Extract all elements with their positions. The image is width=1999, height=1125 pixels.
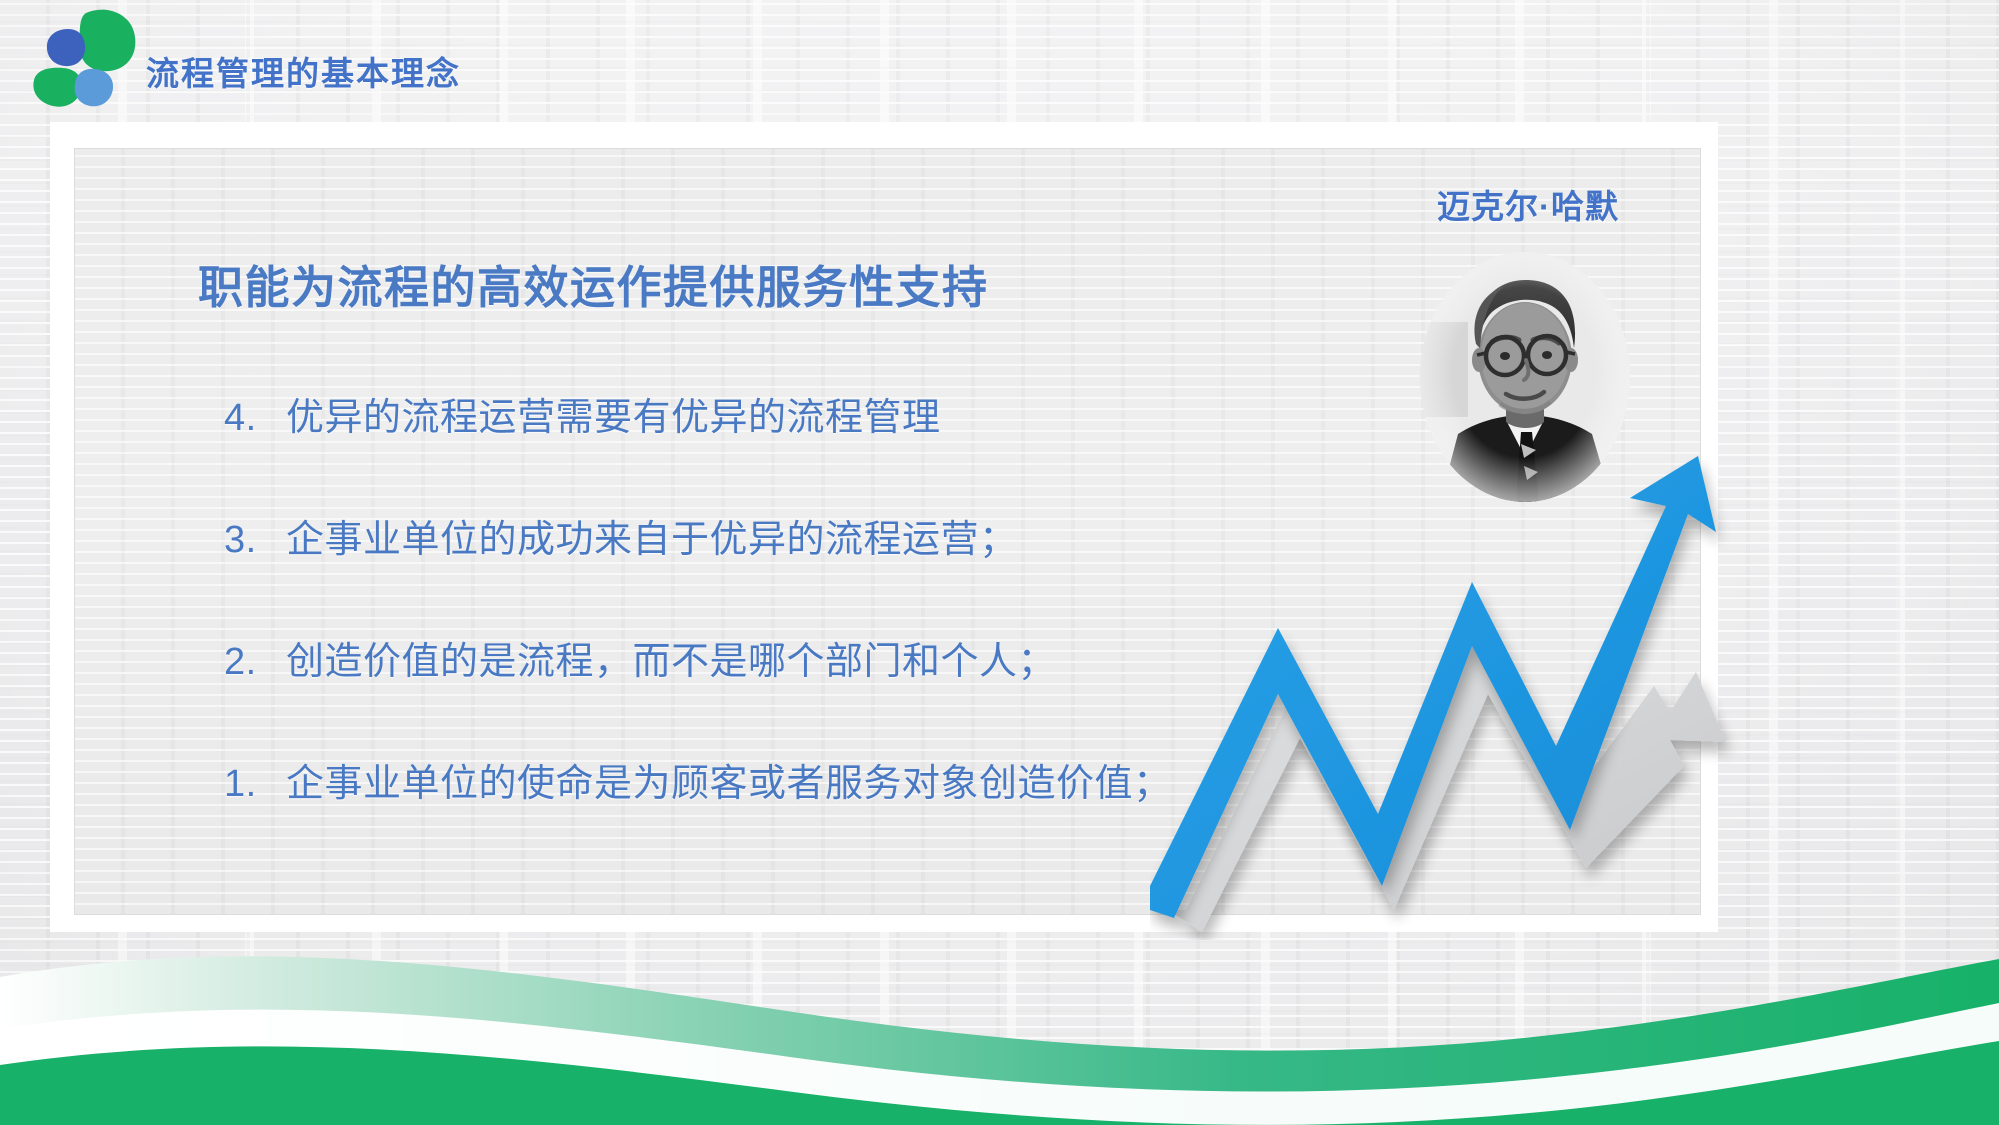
list-item: 4. 优异的流程运营需要有优异的流程管理 bbox=[224, 386, 1274, 508]
slide-root: 流程管理的基本理念 职能为流程的高效运作提供服务性支持 4. 优异的流程运营需要… bbox=[0, 0, 1999, 1125]
list-item-text: 优异的流程运营需要有优异的流程管理 bbox=[286, 386, 941, 441]
person-name-label: 迈克尔·哈默 bbox=[1398, 180, 1658, 228]
list-item-number: 3. bbox=[224, 519, 286, 562]
portrait-oval-mask bbox=[1420, 252, 1630, 502]
list-item-text: 创造价值的是流程，而不是哪个部门和个人； bbox=[286, 630, 1056, 685]
slide-header: 流程管理的基本理念 bbox=[0, 0, 1999, 118]
list-item-number: 1. bbox=[224, 763, 286, 806]
bullet-list: 4. 优异的流程运营需要有优异的流程管理 3. 企事业单位的成功来自于优异的流程… bbox=[224, 386, 1274, 874]
portrait-photo bbox=[1420, 252, 1630, 502]
list-item: 2. 创造价值的是流程，而不是哪个部门和个人； bbox=[224, 630, 1274, 752]
growth-arrow-chart-icon bbox=[1150, 440, 1790, 940]
list-item: 1. 企事业单位的使命是为顾客或者服务对象创造价值； bbox=[224, 752, 1274, 874]
list-item: 3. 企事业单位的成功来自于优异的流程运营； bbox=[224, 508, 1274, 630]
page-title: 流程管理的基本理念 bbox=[146, 57, 461, 90]
list-item-number: 4. bbox=[224, 397, 286, 440]
clover-logo-icon bbox=[28, 7, 140, 111]
list-item-text: 企事业单位的使命是为顾客或者服务对象创造价值； bbox=[286, 752, 1172, 807]
headline: 职能为流程的高效运作提供服务性支持 bbox=[198, 265, 989, 310]
list-item-number: 2. bbox=[224, 641, 286, 684]
list-item-text: 企事业单位的成功来自于优异的流程运营； bbox=[286, 508, 1018, 563]
footer-wave-decoration bbox=[0, 925, 1999, 1125]
